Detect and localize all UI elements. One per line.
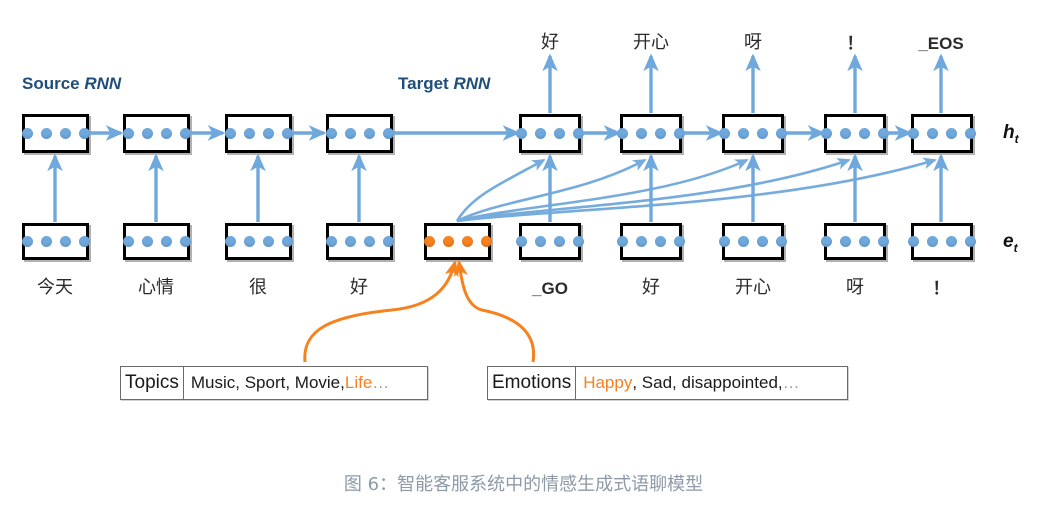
emotions-to-context-arrow [459,262,534,362]
figure-canvas: Source RNN Target RNN ht et 好 开心 呀 ！ _EO… [0,0,1047,510]
arrow-layer [0,0,1047,510]
context-attention-curves [457,160,935,221]
target-embedding-up-arrows [550,156,941,222]
topics-to-context-arrow [305,262,455,362]
target-output-up-arrows [550,56,941,113]
source-embedding-up-arrows [55,156,359,222]
